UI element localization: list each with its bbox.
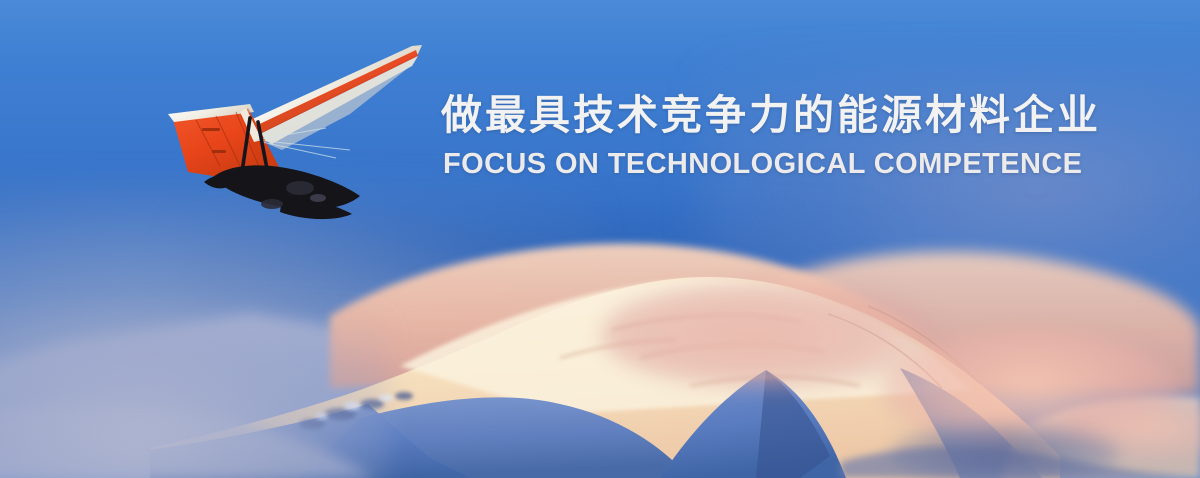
headline-chinese: 做最具技术竞争力的能源材料企业 <box>441 88 1193 142</box>
haze-lower-left <box>0 308 390 478</box>
headline-block: 做最具技术竞争力的能源材料企业 FOCUS ON TECHNOLOGICAL C… <box>441 88 1193 181</box>
hang-glider <box>150 22 490 222</box>
hero-banner: 做最具技术竞争力的能源材料企业 FOCUS ON TECHNOLOGICAL C… <box>0 0 1200 478</box>
cloud-shadow-right <box>890 424 1120 478</box>
headline-english: FOCUS ON TECHNOLOGICAL COMPETENCE <box>443 148 1193 181</box>
